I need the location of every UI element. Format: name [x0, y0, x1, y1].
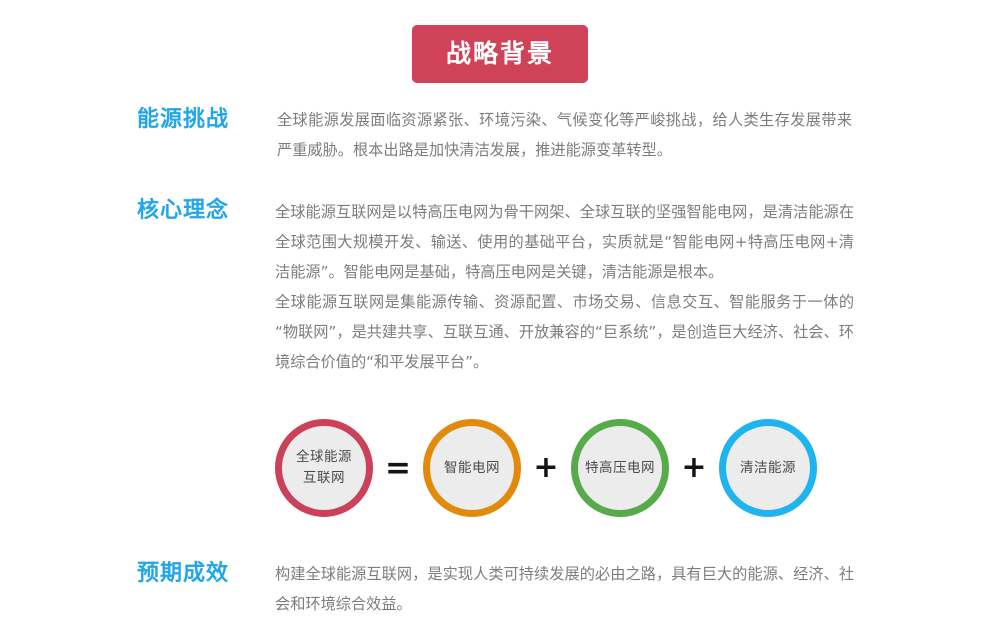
plus-icon: +: [521, 453, 571, 483]
node-label-line1: 全球能源: [296, 447, 352, 468]
page-title-badge: 战略背景: [412, 25, 588, 83]
section-label-expected-outcome: 预期成效: [137, 561, 229, 587]
section-core-concept: 核心理念 全球能源互联网是以特高压电网为骨干网架、全球互联的坚强智能电网，是清洁…: [0, 197, 1000, 533]
page-header: 战略背景: [0, 0, 1000, 83]
node-label-line1: 特高压电网: [585, 458, 655, 479]
section-body-core-concept: 全球能源互联网是以特高压电网为骨干网架、全球互联的坚强智能电网，是清洁能源在全球…: [275, 197, 854, 377]
diagram-node-clean-energy: 清洁能源: [719, 419, 817, 517]
section-label-core-concept: 核心理念: [137, 198, 229, 224]
section-body-expected-outcome: 构建全球能源互联网，是实现人类可持续发展的必由之路，具有巨大的能源、经济、社会和…: [275, 559, 854, 619]
paragraph: 全球能源互联网是以特高压电网为骨干网架、全球互联的坚强智能电网，是清洁能源在全球…: [275, 197, 854, 287]
diagram-node-global-energy-internet: 全球能源 互联网: [275, 419, 373, 517]
diagram-node-uhv-grid: 特高压电网: [571, 419, 669, 517]
plus-icon: +: [669, 453, 719, 483]
section-body-energy-challenge: 全球能源发展面临资源紧张、环境污染、气候变化等严峻挑战，给人类生存发展带来严重威…: [277, 105, 852, 165]
paragraph: 全球能源互联网是集能源传输、资源配置、市场交易、信息交互、智能服务于一体的“物联…: [275, 287, 854, 377]
paragraph: 构建全球能源互联网，是实现人类可持续发展的必由之路，具有巨大的能源、经济、社会和…: [275, 559, 854, 619]
node-label-line1: 清洁能源: [740, 458, 796, 479]
node-label-line1: 智能电网: [444, 458, 500, 479]
paragraph: 全球能源发展面临资源紧张、环境污染、气候变化等严峻挑战，给人类生存发展带来严重威…: [277, 105, 852, 165]
section-label-energy-challenge: 能源挑战: [137, 107, 229, 133]
section-energy-challenge: 能源挑战 全球能源发展面临资源紧张、环境污染、气候变化等严峻挑战，给人类生存发展…: [0, 105, 1000, 165]
equation-diagram: 全球能源 互联网 = 智能电网 + 特高压电网 + 清洁能源: [275, 403, 1000, 533]
equals-icon: =: [373, 453, 423, 484]
diagram-node-smart-grid: 智能电网: [423, 419, 521, 517]
section-expected-outcome: 预期成效 构建全球能源互联网，是实现人类可持续发展的必由之路，具有巨大的能源、经…: [0, 559, 1000, 619]
node-label-line2: 互联网: [303, 468, 345, 489]
